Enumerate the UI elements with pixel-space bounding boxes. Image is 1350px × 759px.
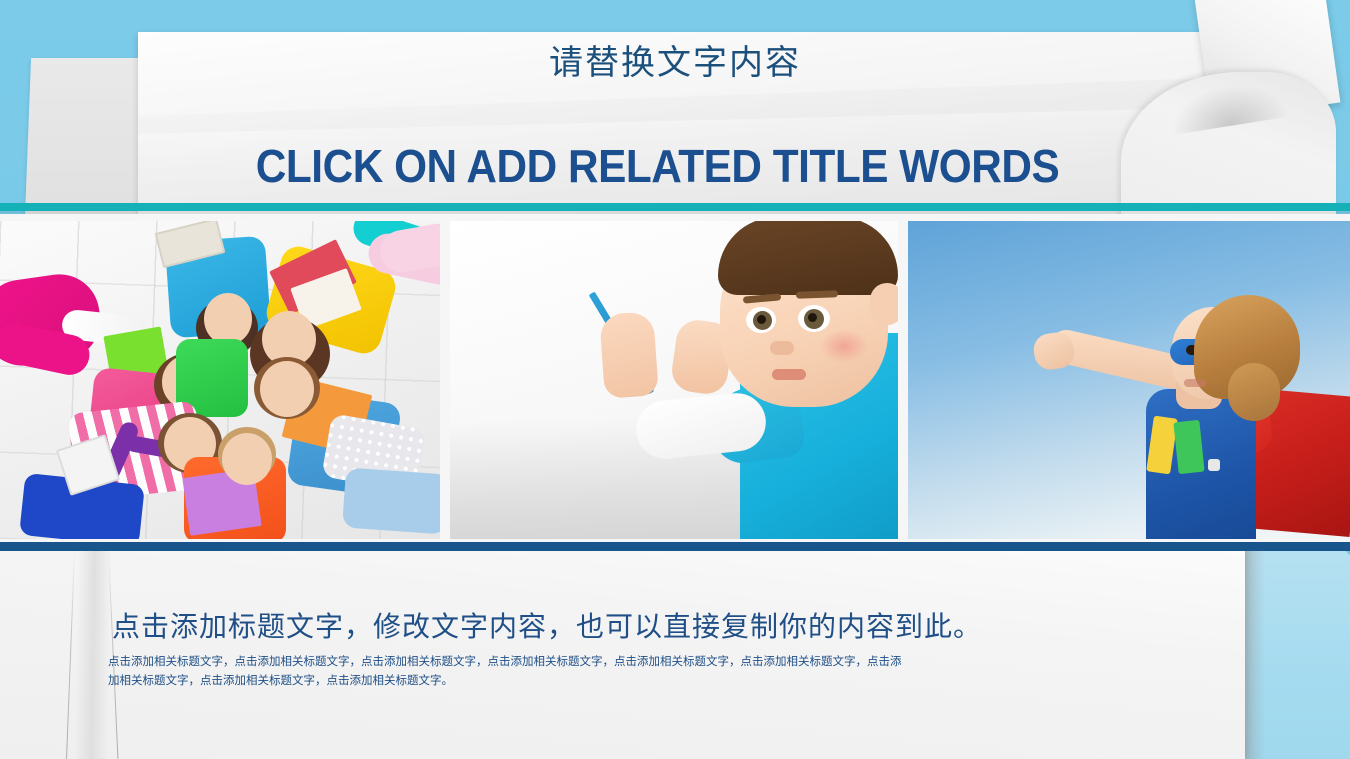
body-paragraph: 点击添加相关标题文字，点击添加相关标题文字，点击添加相关标题文字，点击添加相关标… — [108, 653, 908, 691]
boy-hair — [718, 221, 898, 295]
paper-fold-line-left — [66, 551, 75, 759]
page-title: CLICK ON ADD RELATED TITLE WORDS — [54, 140, 1296, 192]
paper-sheet-bottom-edge — [1245, 551, 1265, 759]
photo-children-reading-circle[interactable] — [0, 221, 440, 539]
child-pants-8 — [342, 467, 440, 534]
boy-eye-left-pupil — [757, 315, 766, 324]
slide-subtitle-chinese: 请替换文字内容 — [0, 35, 1350, 84]
paper-fold-shade — [74, 551, 112, 759]
navy-divider-bar — [0, 542, 1350, 551]
boy-eye-right-pupil — [808, 313, 817, 322]
boy-cheek — [820, 329, 868, 363]
superhero-mouth — [1184, 379, 1206, 387]
photo-gallery — [0, 221, 1350, 539]
boy-ear — [870, 283, 899, 325]
boy-left-hand — [599, 311, 659, 399]
child-head-2 — [204, 293, 252, 345]
teal-divider-bar — [0, 203, 1350, 211]
boy-nose — [770, 341, 794, 355]
child-head-7 — [222, 433, 272, 485]
teal-divider-shadow — [0, 211, 1350, 214]
photo-superhero-child[interactable] — [908, 221, 1350, 539]
photo-boy-drawing-with-pencil[interactable] — [450, 221, 899, 539]
boy-brow-right — [796, 290, 838, 298]
superhero-hair-bun — [1228, 363, 1280, 421]
body-heading: 点击添加标题文字，修改文字内容，也可以直接复制你的内容到此。 — [112, 611, 982, 645]
presentation-slide: 请替换文字内容 CLICK ON ADD RELATED TITLE WORDS — [0, 0, 1350, 759]
boy-mouth — [772, 369, 806, 380]
child-head-8 — [260, 361, 314, 417]
superhero-logo-part-3 — [1208, 459, 1220, 471]
